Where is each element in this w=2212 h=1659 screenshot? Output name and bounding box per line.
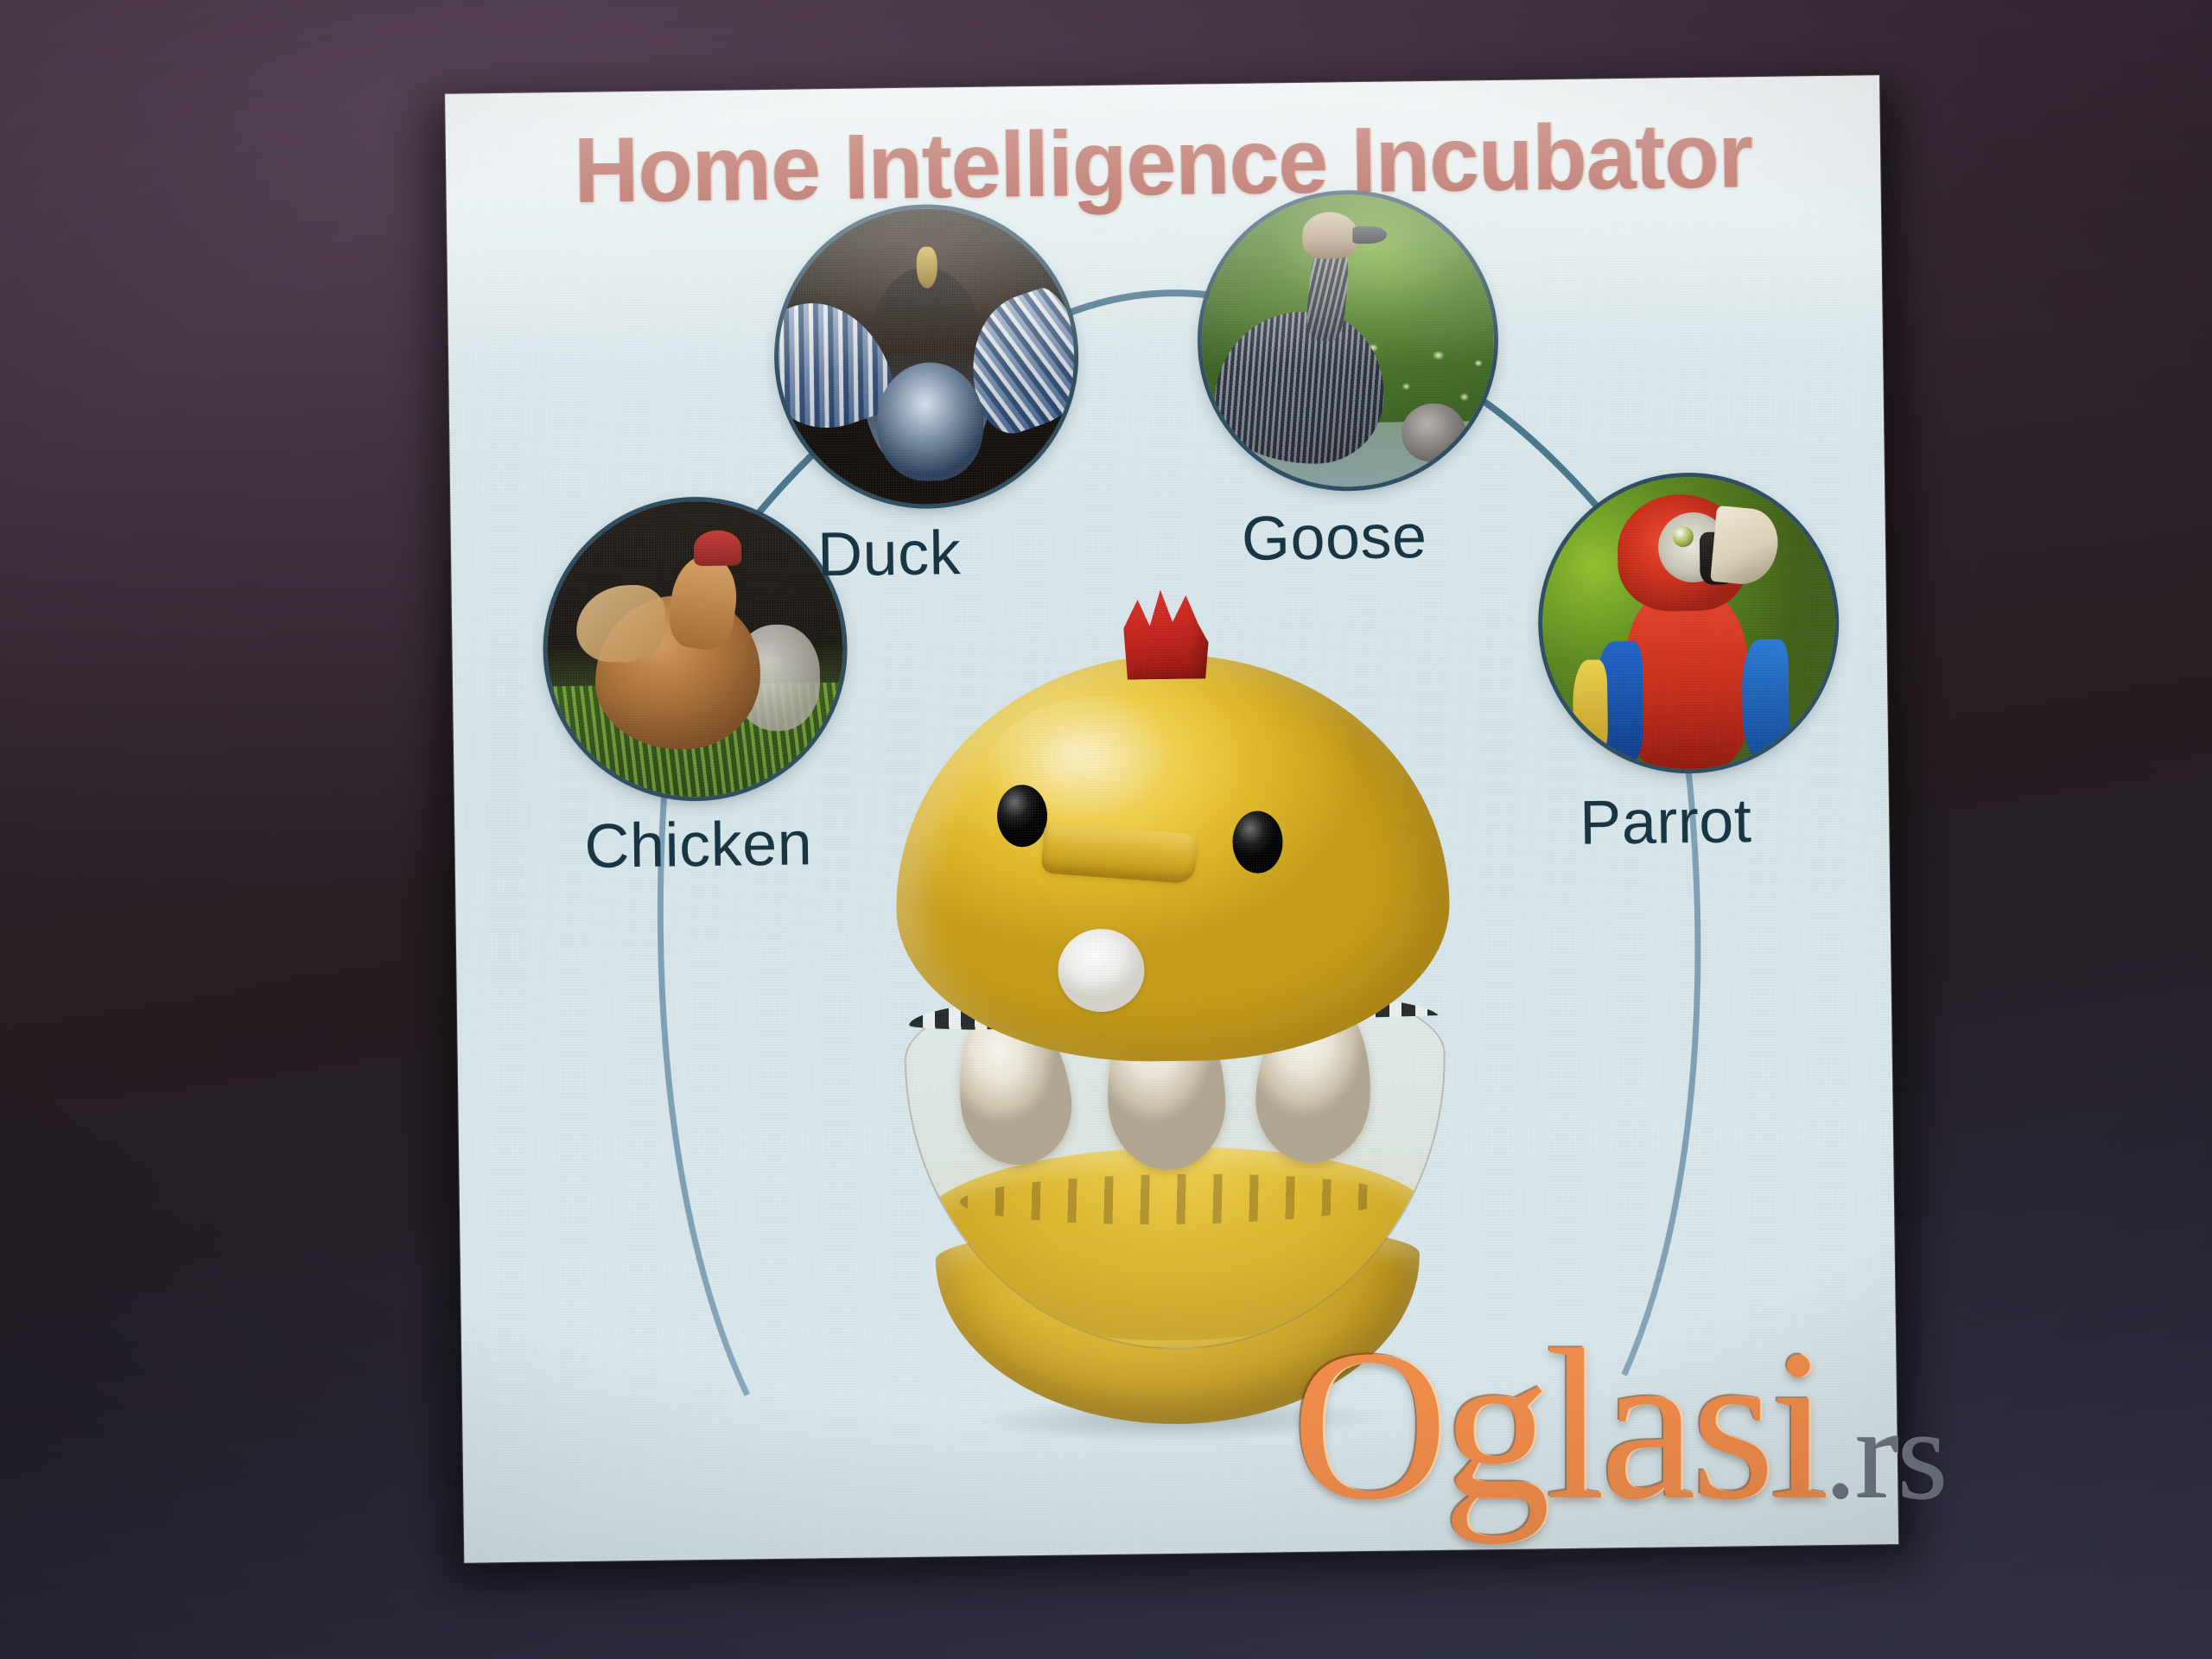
- vignette: [0, 0, 2212, 1659]
- photo-scene: Home Intelligence Incubator: [0, 0, 2212, 1659]
